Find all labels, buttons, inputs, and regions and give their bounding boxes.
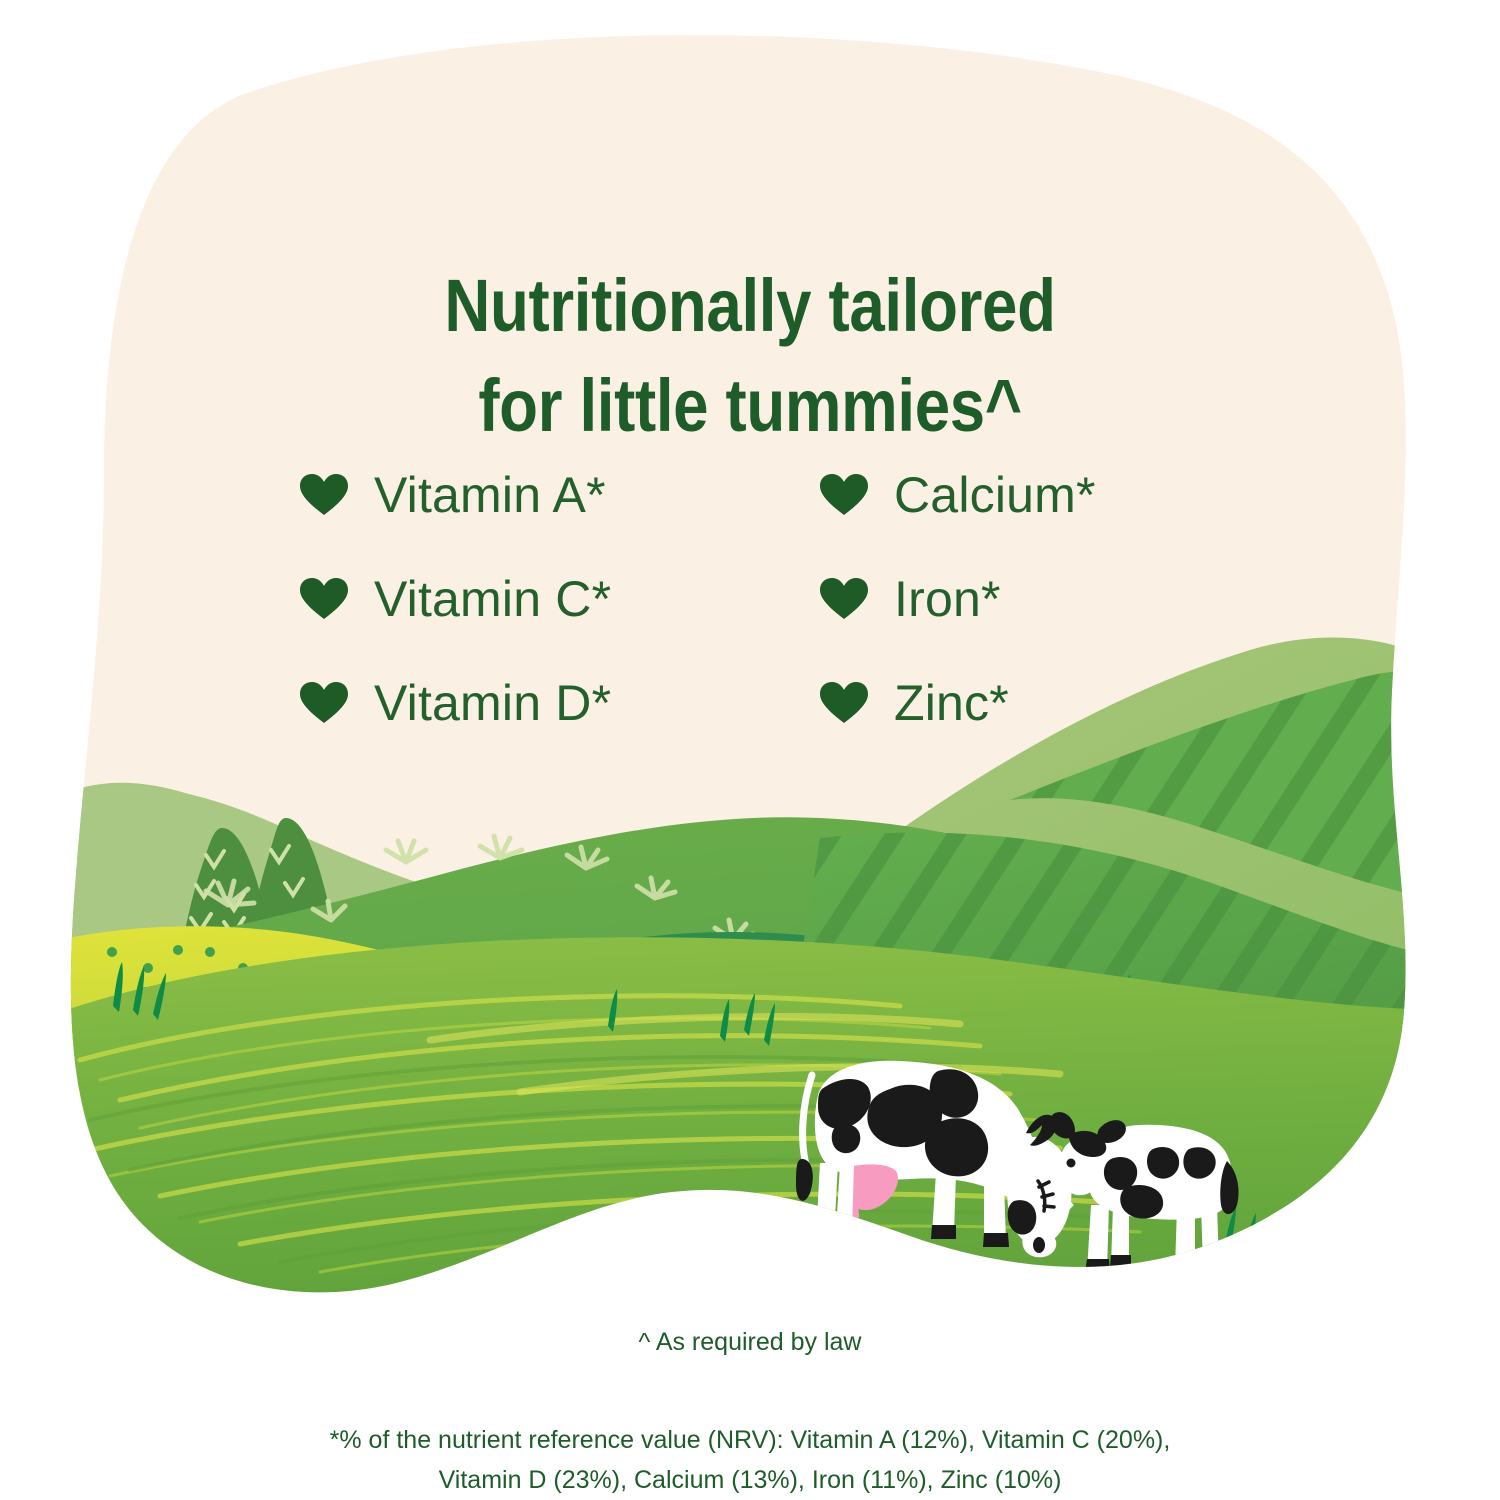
nutrient-label: Iron* — [894, 574, 1001, 624]
heart-icon — [820, 578, 868, 620]
nutrient-item-calcium: Calcium* — [820, 466, 1280, 524]
page-title-line-1: Nutritionally tailored — [105, 256, 1395, 356]
heart-icon — [300, 682, 348, 724]
text-layer: Nutritionally tailored for little tummie… — [0, 0, 1500, 1500]
nutrient-list: Vitamin A* Calcium* Vitamin C* Iron* — [300, 466, 1280, 732]
nutrient-label: Vitamin D* — [374, 678, 611, 728]
nutrient-item-zinc: Zinc* — [820, 674, 1280, 732]
page-title-line-2: for little tummies^ — [105, 356, 1395, 456]
footnote-nrv: *% of the nutrient reference value (NRV)… — [0, 1420, 1500, 1500]
footnote-law: ^ As required by law — [0, 1325, 1500, 1359]
nutrient-item-vitamin-a: Vitamin A* — [300, 466, 820, 524]
heart-icon — [300, 578, 348, 620]
footnote-nrv-line-2: Vitamin D (23%), Calcium (13%), Iron (11… — [0, 1460, 1500, 1500]
heart-icon — [300, 474, 348, 516]
nutrient-label: Vitamin C* — [374, 574, 611, 624]
nutrient-label: Calcium* — [894, 470, 1096, 520]
nutrient-label: Vitamin A* — [374, 470, 606, 520]
footnote-nrv-line-1: *% of the nutrient reference value (NRV)… — [0, 1420, 1500, 1460]
promo-panel: Nutritionally tailored for little tummie… — [0, 0, 1500, 1500]
heart-icon — [820, 682, 868, 724]
page-title: Nutritionally tailored for little tummie… — [105, 256, 1395, 456]
nutrient-label: Zinc* — [894, 678, 1009, 728]
nutrient-item-iron: Iron* — [820, 570, 1280, 628]
nutrient-item-vitamin-d: Vitamin D* — [300, 674, 820, 732]
heart-icon — [820, 474, 868, 516]
nutrient-item-vitamin-c: Vitamin C* — [300, 570, 820, 628]
